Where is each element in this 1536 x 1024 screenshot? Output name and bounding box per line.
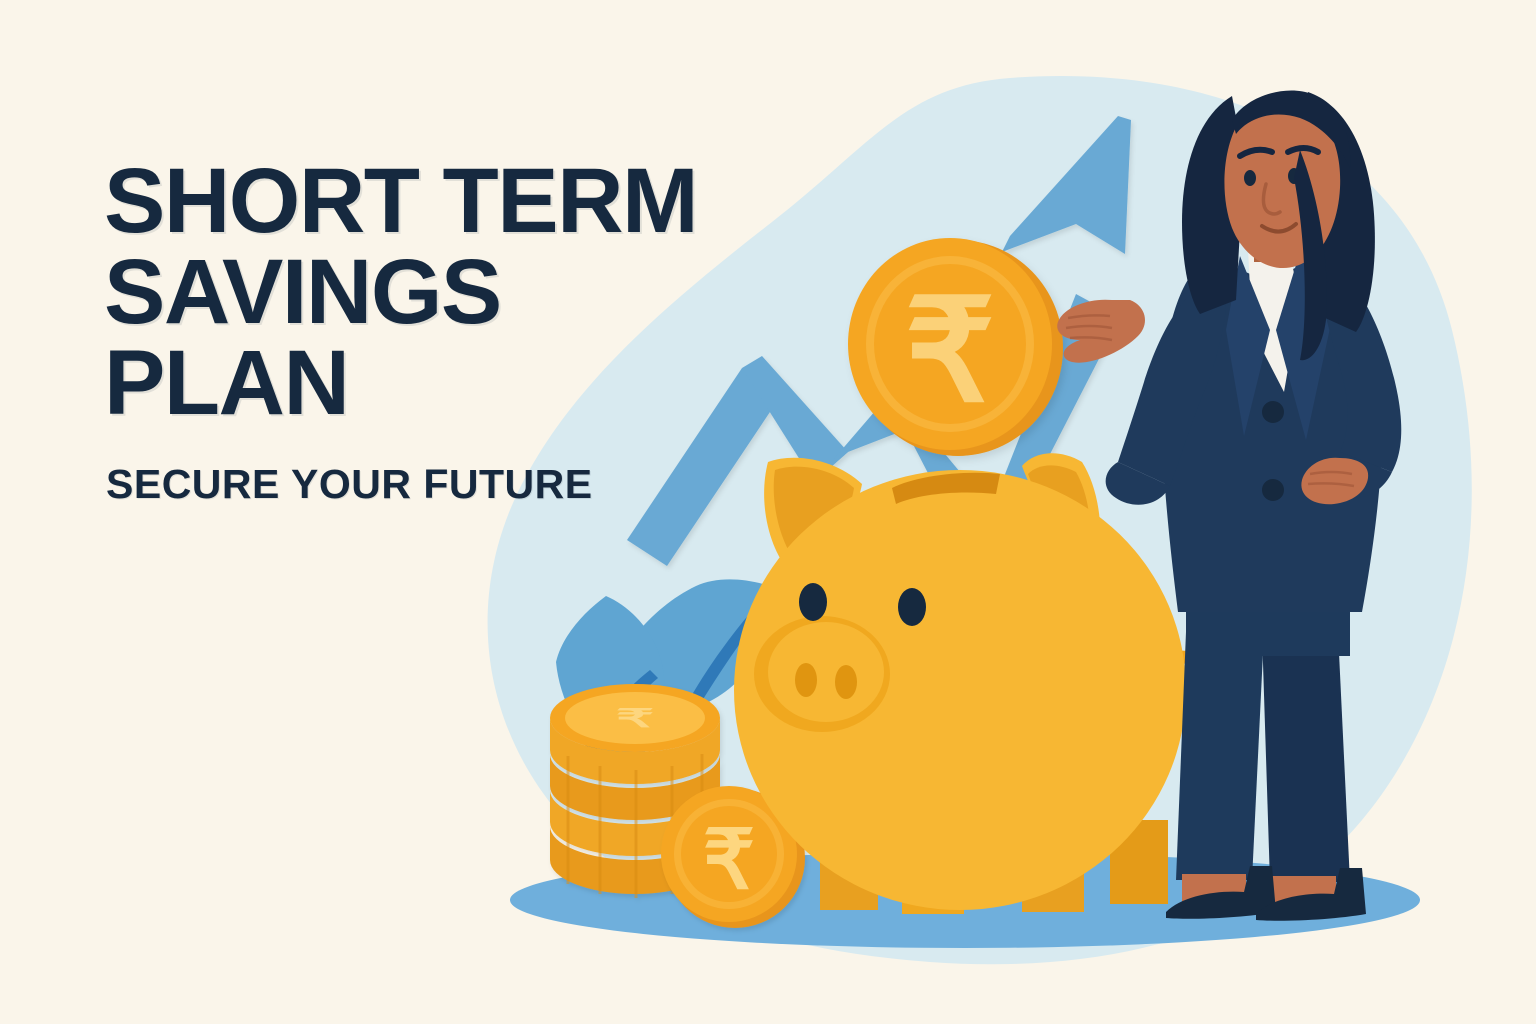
headline-line-3: PLAN <box>104 338 824 429</box>
piggy-eye-left <box>799 583 827 621</box>
piggy-eye-right <box>898 588 926 626</box>
headline-line-2: SAVINGS <box>104 247 824 338</box>
headline-line-1: SHORT TERM <box>104 156 824 247</box>
headline-block: SHORT TERM SAVINGS PLAN SECURE YOUR FUTU… <box>104 156 824 508</box>
rupee-symbol-floating-coin: ₹ <box>905 272 995 431</box>
svg-text:₹: ₹ <box>616 704 655 732</box>
rupee-symbol-stack-top: ₹ <box>616 704 655 732</box>
rupee-symbol-front-coin: ₹ <box>703 815 755 906</box>
suit-button-bottom <box>1262 479 1284 501</box>
subheadline: SECURE YOUR FUTURE <box>106 461 824 508</box>
suit-button-top <box>1262 401 1284 423</box>
eye-left <box>1244 170 1256 186</box>
page-title: SHORT TERM SAVINGS PLAN <box>104 156 824 429</box>
poster-canvas: ₹ ₹ <box>0 0 1536 1024</box>
